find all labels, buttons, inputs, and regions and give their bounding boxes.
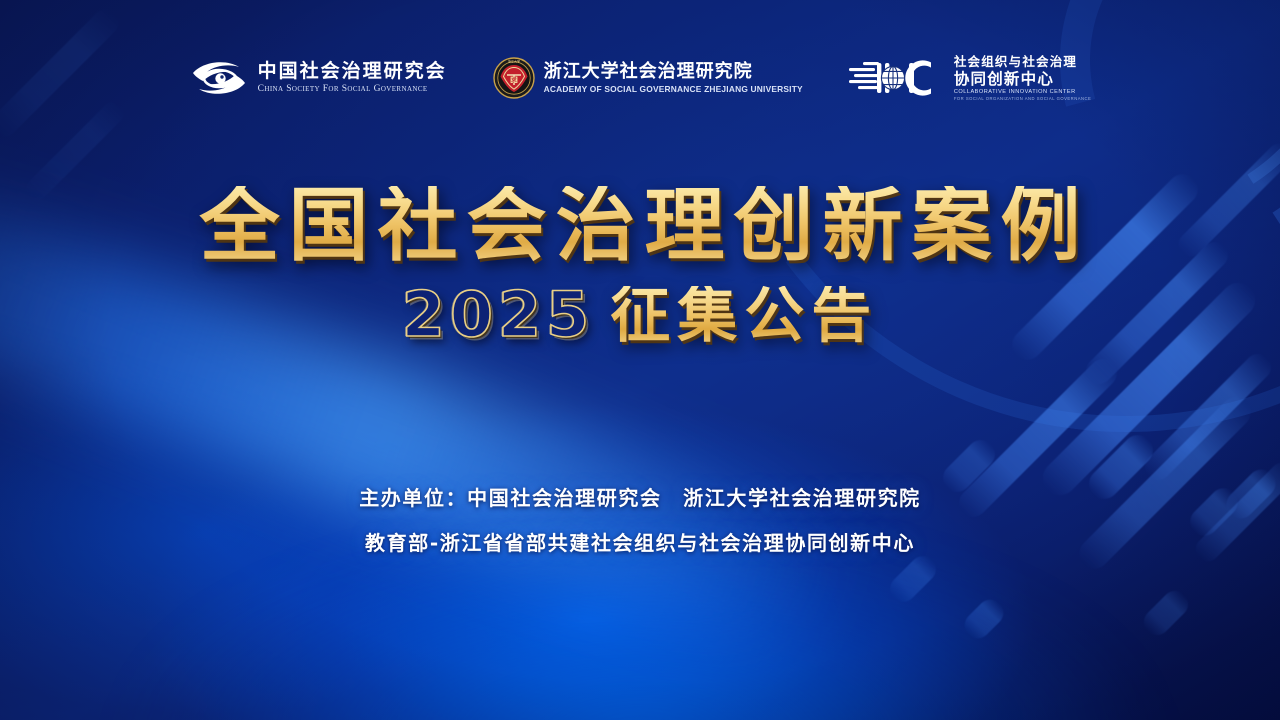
logo-text-block: 社会组织与社会治理 协同创新中心 COLLABORATIVE INNOVATIO… bbox=[954, 56, 1092, 101]
year-label: 2025 bbox=[402, 284, 595, 346]
logo-zhejiang-university-academy: 求 浙江大学 浙江大学社会治理研究院 ACADEMY OF SOCIAL GOV… bbox=[493, 57, 803, 99]
logo-title-cn: 浙江大学社会治理研究院 bbox=[544, 63, 803, 81]
organizer-line-2: 教育部-浙江省省部共建社会组织与社会治理协同创新中心 bbox=[0, 527, 1280, 556]
background-pill bbox=[1138, 585, 1193, 640]
svg-text:浙江大学: 浙江大学 bbox=[508, 59, 520, 64]
logo-text-block: 中国社会治理研究会 China Society For Social Gover… bbox=[258, 62, 447, 95]
organizers-block: 主办单位：中国社会治理研究会 浙江大学社会治理研究院 教育部-浙江省省部共建社会… bbox=[0, 482, 1280, 556]
subtitle-row: 2025 征集公告 bbox=[0, 284, 1280, 346]
logo-title-cn-line2: 协同创新中心 bbox=[954, 72, 1092, 88]
organizer-line-1: 主办单位：中国社会治理研究会 浙江大学社会治理研究院 bbox=[0, 482, 1280, 511]
background-bottom-glow bbox=[130, 530, 1150, 720]
svg-text:求: 求 bbox=[511, 76, 517, 84]
logo-title-cn: 中国社会治理研究会 bbox=[258, 62, 447, 81]
logo-subtitle-en: FOR SOCIAL ORGANIZATION AND SOCIAL GOVER… bbox=[954, 97, 1092, 101]
page-title: 全国社会治理创新案例 bbox=[9, 186, 1280, 266]
sponsor-logo-bar: 中国社会治理研究会 China Society For Social Gover… bbox=[0, 56, 1280, 101]
logo-title-en: COLLABORATIVE INNOVATION CENTER bbox=[954, 90, 1092, 96]
logo-title-en: China Society For Social Governance bbox=[258, 85, 447, 95]
subtitle-label: 征集公告 bbox=[610, 286, 878, 346]
background-stripe bbox=[1139, 348, 1276, 485]
cic-globe-speedlines-icon bbox=[849, 57, 945, 99]
eye-wave-swirl-icon bbox=[189, 57, 249, 99]
logo-china-society-social-governance: 中国社会治理研究会 China Society For Social Gover… bbox=[189, 57, 447, 99]
poster-canvas: 中国社会治理研究会 China Society For Social Gover… bbox=[0, 0, 1280, 720]
logo-text-block: 浙江大学社会治理研究院 ACADEMY OF SOCIAL GOVERNANCE… bbox=[544, 63, 803, 93]
logo-title-en: ACADEMY OF SOCIAL GOVERNANCE ZHEJIANG UN… bbox=[544, 85, 803, 93]
headline-block: 全国社会治理创新案例 2025 征集公告 bbox=[0, 186, 1280, 346]
logo-title-cn-line1: 社会组织与社会治理 bbox=[954, 56, 1092, 69]
logo-collaborative-innovation-center: 社会组织与社会治理 协同创新中心 COLLABORATIVE INNOVATIO… bbox=[849, 56, 1092, 101]
zhejiang-university-crest-icon: 求 浙江大学 bbox=[493, 57, 535, 99]
